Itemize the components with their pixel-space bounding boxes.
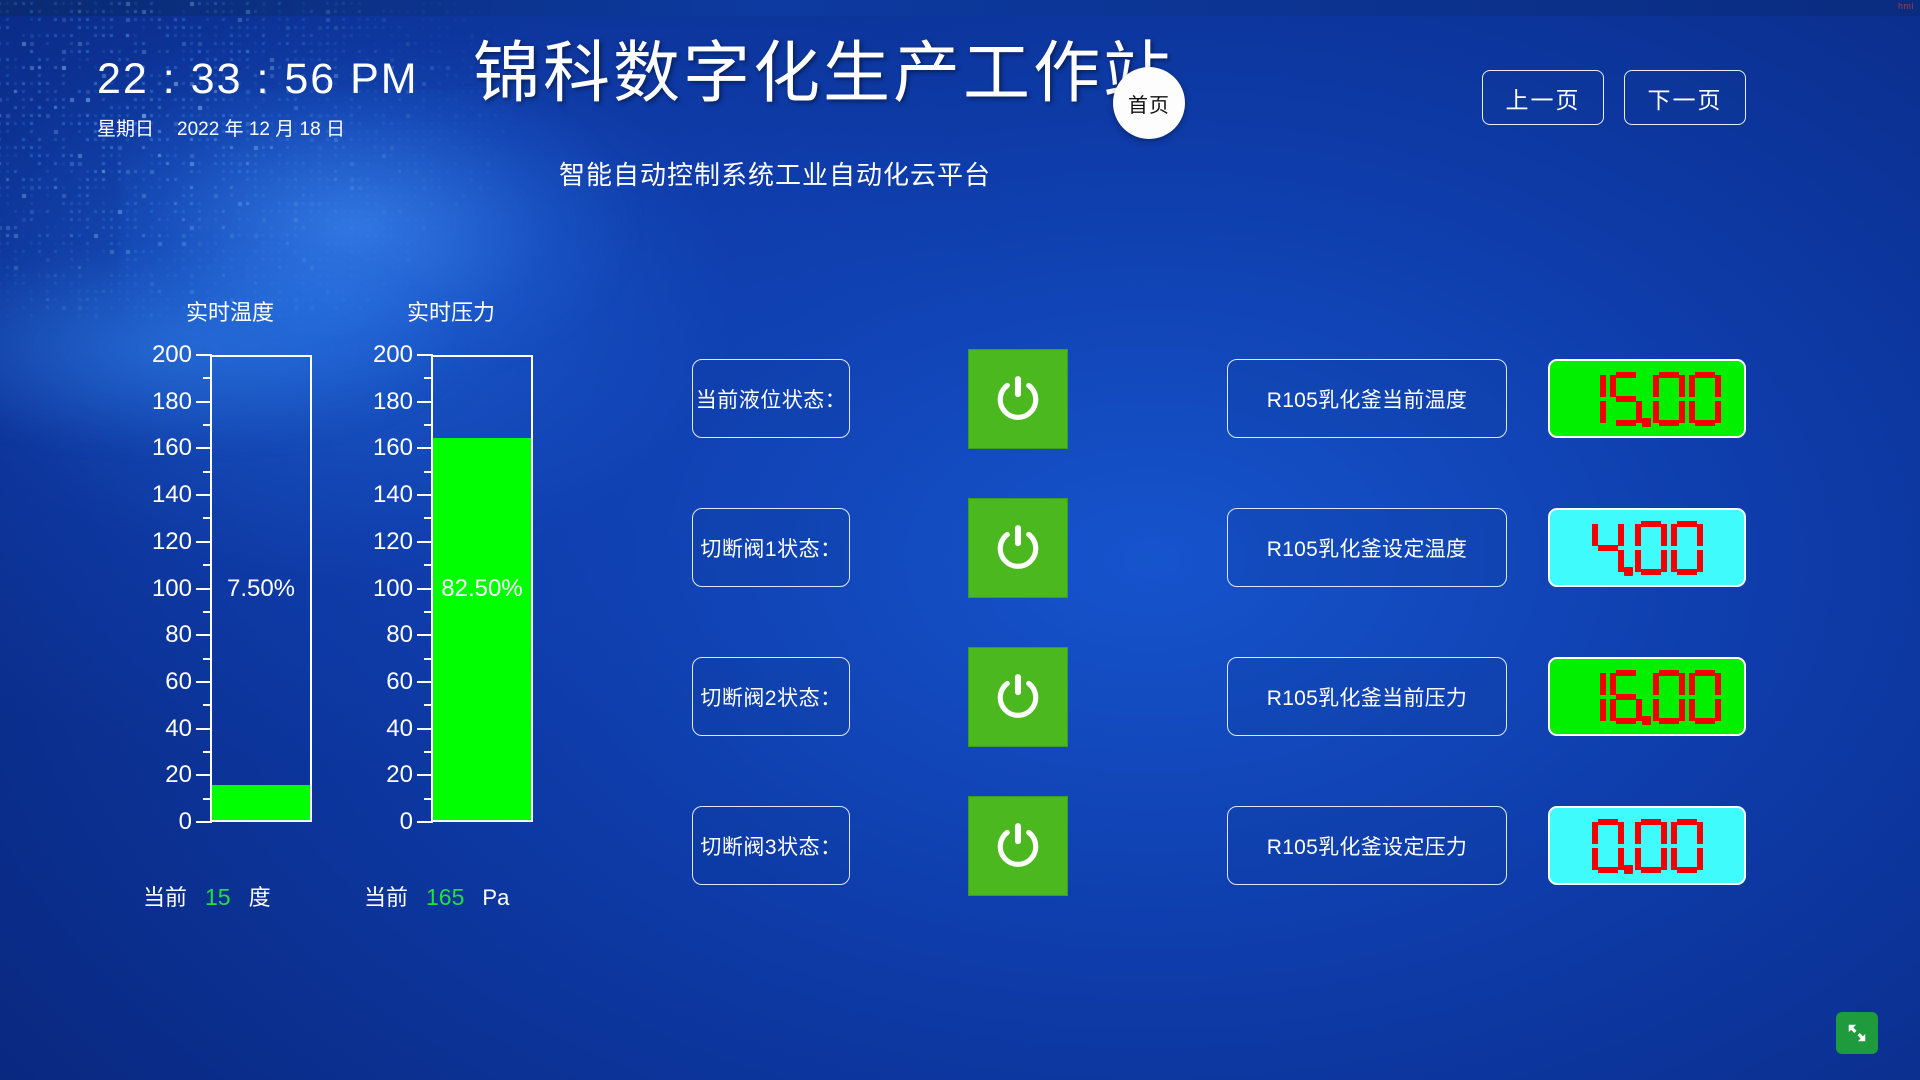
power-toggle-button-1[interactable] — [968, 498, 1068, 598]
segment-c — [1600, 699, 1606, 721]
seven-segment-display-2[interactable] — [1548, 657, 1746, 736]
segment-e — [1635, 550, 1641, 572]
segment-e — [1574, 699, 1580, 721]
gauge-tick-label: 160 — [331, 434, 413, 462]
gauge-tick-label: 100 — [110, 575, 192, 603]
segment-c — [1679, 699, 1685, 721]
segment-g — [1695, 694, 1715, 700]
segment-b — [1679, 375, 1685, 397]
segment-e — [1653, 401, 1659, 423]
gauge-tick-label: 200 — [331, 341, 413, 369]
segment-d — [1616, 718, 1636, 724]
seven-segment-digit — [1688, 669, 1722, 725]
segment-g — [1641, 843, 1661, 849]
power-icon — [990, 818, 1046, 874]
segment-b — [1618, 524, 1624, 546]
segment-f — [1671, 524, 1677, 546]
gauge-readout-unit: 度 — [249, 880, 271, 912]
gauge-percent-label: 82.50% — [431, 575, 533, 603]
seven-segment-digit — [1634, 818, 1668, 874]
segment-a — [1659, 670, 1679, 676]
segment-f — [1689, 375, 1695, 397]
power-toggle-button-2[interactable] — [968, 647, 1068, 747]
segment-g — [1598, 843, 1618, 849]
segment-a — [1659, 372, 1679, 378]
segment-f — [1635, 524, 1641, 546]
gauge-bar-fill — [433, 438, 531, 820]
segment-d — [1659, 420, 1679, 426]
gauge-tick-label: 180 — [110, 388, 192, 416]
segment-b — [1661, 524, 1667, 546]
segment-b — [1636, 375, 1642, 397]
segment-b — [1600, 375, 1606, 397]
segment-g — [1659, 694, 1679, 700]
segment-d — [1598, 569, 1618, 575]
seven-segment-digit — [1634, 520, 1668, 576]
segment-a — [1580, 670, 1600, 676]
segment-a — [1695, 372, 1715, 378]
gauge-readout-label: 当前 — [143, 880, 187, 912]
power-icon — [990, 520, 1046, 576]
gauge-tick-label: 60 — [110, 668, 192, 696]
seven-segment-digit — [1652, 371, 1686, 427]
segment-b — [1697, 822, 1703, 844]
power-icon — [990, 371, 1046, 427]
gauge-tick-label: 40 — [331, 715, 413, 743]
power-icon — [990, 669, 1046, 725]
segment-f — [1653, 673, 1659, 695]
segment-a — [1598, 819, 1618, 825]
segment-e — [1592, 550, 1598, 572]
segment-f — [1635, 822, 1641, 844]
segment-b — [1636, 673, 1642, 695]
segment-b — [1697, 524, 1703, 546]
segment-a — [1677, 521, 1697, 527]
segment-b — [1600, 673, 1606, 695]
seven-segment-decimal-point — [1642, 418, 1651, 427]
segment-f — [1592, 524, 1598, 546]
gauge-bar-fill — [212, 785, 310, 820]
segment-e — [1689, 401, 1695, 423]
segment-g — [1580, 396, 1600, 402]
segment-d — [1616, 420, 1636, 426]
segment-f — [1574, 673, 1580, 695]
gauge-tick-label: 80 — [110, 621, 192, 649]
segment-g — [1616, 694, 1636, 700]
gauge-readout-row: 当前15度 — [143, 880, 271, 912]
seven-segment-digit — [1591, 818, 1625, 874]
segment-b — [1618, 822, 1624, 844]
segment-a — [1616, 670, 1636, 676]
segment-c — [1679, 401, 1685, 423]
seven-segment-digit — [1573, 669, 1607, 725]
power-toggle-button-3[interactable] — [968, 796, 1068, 896]
status-label-box-2[interactable]: 切断阀2状态： — [692, 657, 850, 736]
segment-b — [1715, 375, 1721, 397]
gauge-readout-row: 当前165Pa — [364, 880, 509, 912]
seven-segment-decimal-point — [1642, 716, 1651, 725]
segment-g — [1641, 545, 1661, 551]
segment-c — [1636, 401, 1642, 423]
seven-segment-display-0[interactable] — [1548, 359, 1746, 438]
gauge-tick-label: 40 — [110, 715, 192, 743]
date-row: 星期日 2022 年 12 月 18 日 — [97, 114, 419, 141]
seven-segment-digit — [1591, 520, 1625, 576]
segment-d — [1695, 420, 1715, 426]
segment-f — [1653, 375, 1659, 397]
readout-label-box-1[interactable]: R105乳化釜设定温度 — [1227, 508, 1507, 587]
gauge-title: 实时压力 — [361, 295, 541, 327]
home-button[interactable]: 首页 — [1113, 67, 1185, 139]
segment-f — [1671, 822, 1677, 844]
clock-time: 22 : 33 : 56 PM — [97, 58, 419, 101]
segment-e — [1574, 401, 1580, 423]
seven-segment-digit — [1573, 371, 1607, 427]
clock-block: 22 : 33 : 56 PM 星期日 2022 年 12 月 18 日 — [97, 58, 419, 141]
segment-g — [1677, 843, 1697, 849]
segment-d — [1580, 420, 1600, 426]
gauge-readout-label: 当前 — [364, 880, 408, 912]
segment-g — [1598, 545, 1618, 551]
segment-e — [1671, 550, 1677, 572]
page-subtitle: 智能自动控制系统工业自动化云平台 — [559, 155, 991, 192]
segment-a — [1598, 521, 1618, 527]
segment-e — [1610, 401, 1616, 423]
segment-e — [1610, 699, 1616, 721]
seven-segment-digit — [1670, 520, 1704, 576]
gauge-tick-label: 0 — [110, 808, 192, 836]
gauge-readout-value: 165 — [426, 884, 464, 911]
segment-g — [1677, 545, 1697, 551]
seven-segment-digit — [1688, 371, 1722, 427]
gauge-readout-unit: Pa — [482, 885, 509, 911]
segment-a — [1641, 521, 1661, 527]
status-label-box-0[interactable]: 当前液位状态： — [692, 359, 850, 438]
segment-a — [1677, 819, 1697, 825]
power-toggle-button-0[interactable] — [968, 349, 1068, 449]
gauge-tick-label: 120 — [110, 528, 192, 556]
seven-segment-digit — [1609, 669, 1643, 725]
gauge-tick-label: 60 — [331, 668, 413, 696]
segment-c — [1618, 550, 1624, 572]
gauge-tick-label: 0 — [331, 808, 413, 836]
segment-c — [1715, 401, 1721, 423]
segment-d — [1598, 867, 1618, 873]
date-label: 2022 年 12 月 18 日 — [177, 114, 345, 141]
segment-e — [1592, 848, 1598, 870]
segment-a — [1641, 819, 1661, 825]
fullscreen-button[interactable] — [1836, 1012, 1878, 1054]
gauge-tick-label: 80 — [331, 621, 413, 649]
segment-c — [1661, 550, 1667, 572]
status-label-box-3[interactable]: 切断阀3状态： — [692, 806, 850, 885]
weekday-label: 星期日 — [97, 114, 154, 141]
segment-b — [1715, 673, 1721, 695]
segment-g — [1695, 396, 1715, 402]
seven-segment-decimal-point — [1624, 567, 1633, 576]
segment-g — [1580, 694, 1600, 700]
gauge-tick-label: 200 — [110, 341, 192, 369]
gauge-tick-label: 140 — [331, 481, 413, 509]
next-page-button[interactable]: 下一页 — [1624, 70, 1746, 125]
fullscreen-icon — [1846, 1022, 1868, 1044]
gauge-tick-label: 100 — [331, 575, 413, 603]
seven-segment-display-1[interactable] — [1548, 508, 1746, 587]
readout-label-box-0[interactable]: R105乳化釜当前温度 — [1227, 359, 1507, 438]
segment-d — [1695, 718, 1715, 724]
segment-e — [1689, 699, 1695, 721]
segment-a — [1616, 372, 1636, 378]
segment-d — [1677, 569, 1697, 575]
corner-watermark: hmi — [1898, 1, 1914, 11]
seven-segment-display-3[interactable] — [1548, 806, 1746, 885]
status-label-box-1[interactable]: 切断阀1状态： — [692, 508, 850, 587]
segment-g — [1659, 396, 1679, 402]
background-light-sweep — [0, 150, 660, 480]
gauge-percent-label: 7.50% — [210, 575, 312, 603]
seven-segment-digit — [1609, 371, 1643, 427]
segment-f — [1574, 375, 1580, 397]
segment-f — [1610, 375, 1616, 397]
segment-c — [1636, 699, 1642, 721]
gauge-tick-label: 20 — [110, 761, 192, 789]
segment-d — [1659, 718, 1679, 724]
gauge-title: 实时温度 — [140, 295, 320, 327]
segment-c — [1618, 848, 1624, 870]
segment-a — [1695, 670, 1715, 676]
gauge-readout-value: 15 — [205, 884, 231, 911]
gauge-tick-label: 140 — [110, 481, 192, 509]
segment-f — [1610, 673, 1616, 695]
gauge-tick-label: 160 — [110, 434, 192, 462]
segment-d — [1580, 718, 1600, 724]
readout-label-box-2[interactable]: R105乳化釜当前压力 — [1227, 657, 1507, 736]
readout-label-box-3[interactable]: R105乳化釜设定压力 — [1227, 806, 1507, 885]
page-title: 锦科数字化生产工作站 — [473, 36, 1173, 111]
segment-c — [1661, 848, 1667, 870]
segment-d — [1641, 867, 1661, 873]
segment-f — [1592, 822, 1598, 844]
seven-segment-decimal-point — [1624, 865, 1633, 874]
segment-c — [1697, 848, 1703, 870]
prev-page-button[interactable]: 上一页 — [1482, 70, 1604, 125]
gauge-tick-label: 120 — [331, 528, 413, 556]
segment-b — [1661, 822, 1667, 844]
gauge-tick-label: 20 — [331, 761, 413, 789]
segment-e — [1635, 848, 1641, 870]
segment-c — [1715, 699, 1721, 721]
seven-segment-digit — [1652, 669, 1686, 725]
segment-a — [1580, 372, 1600, 378]
segment-b — [1679, 673, 1685, 695]
gauge-tick-label: 180 — [331, 388, 413, 416]
segment-d — [1641, 569, 1661, 575]
segment-c — [1697, 550, 1703, 572]
segment-c — [1600, 401, 1606, 423]
seven-segment-digit — [1670, 818, 1704, 874]
segment-d — [1677, 867, 1697, 873]
segment-f — [1689, 673, 1695, 695]
segment-e — [1653, 699, 1659, 721]
segment-e — [1671, 848, 1677, 870]
segment-g — [1616, 396, 1636, 402]
